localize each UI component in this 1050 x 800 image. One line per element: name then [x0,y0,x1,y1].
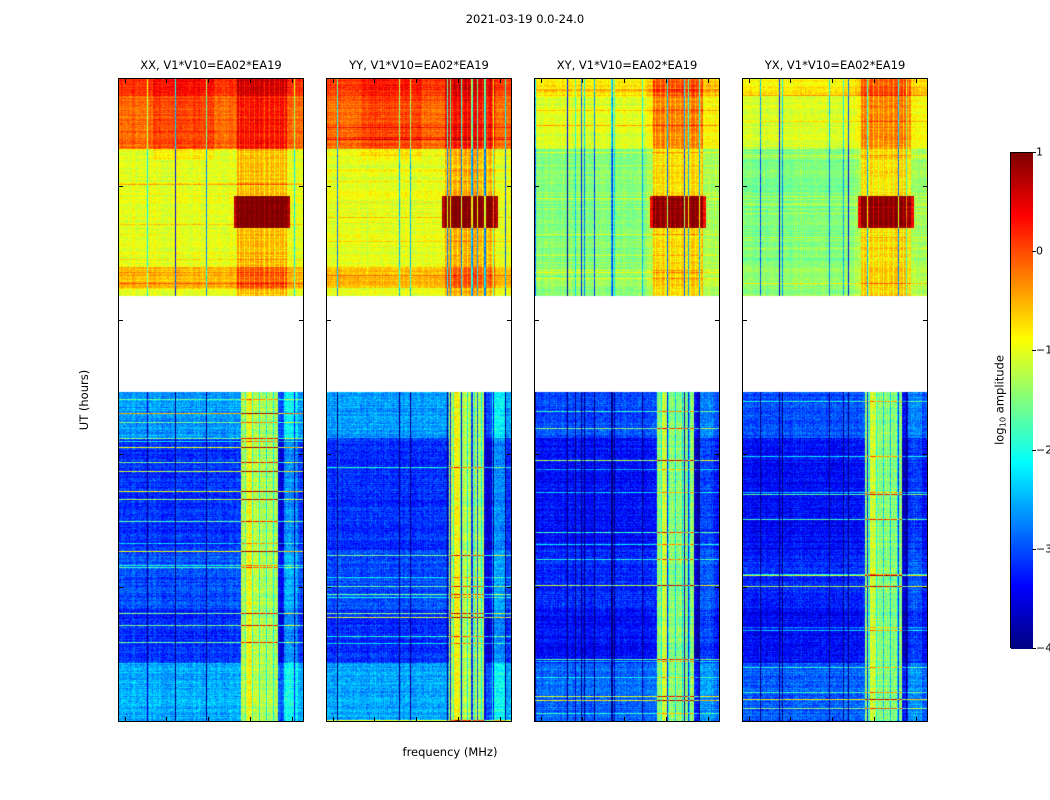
panel-title-yx: YX, V1*V10=EA02*EA19 [742,58,928,72]
y-tick-mark [923,186,927,187]
x-tick-mark [250,79,251,83]
x-tick-mark [166,717,167,721]
spectrum-panel-yx: 05101520320335350365380 [742,78,928,722]
colorbar-tick-mark [1032,350,1036,351]
x-tick-mark [500,717,501,721]
y-tick-mark [535,587,539,588]
x-tick-mark [292,717,293,721]
x-tick-mark [790,79,791,83]
x-tick-mark [666,717,667,721]
x-tick-mark [749,79,750,83]
y-tick-mark [327,721,331,722]
x-tick-mark [749,717,750,721]
y-tick-mark [743,721,747,722]
colorbar-tick-mark [1032,549,1036,550]
y-tick-mark [535,454,539,455]
spectrum-panel-xy: 05101520320335350365380 [534,78,720,722]
y-tick-mark [327,320,331,321]
x-tick-mark [458,717,459,721]
colorbar-tick-label: −1 [1036,344,1050,357]
y-tick-mark [715,186,719,187]
y-tick-mark [715,454,719,455]
colorbar-tick-label: −4 [1036,642,1050,655]
y-tick-mark [119,587,123,588]
y-tick-mark [507,721,511,722]
x-tick-mark [874,79,875,83]
y-tick-mark [715,587,719,588]
y-tick-mark [507,320,511,321]
x-tick-mark [166,79,167,83]
x-tick-mark [125,79,126,83]
y-axis-label: UT (hours) [77,370,91,430]
y-tick-mark [507,454,511,455]
spectrum-panel-yy: 05101520320335350365380 [326,78,512,722]
spectrum-panel-xx: 05101520320335350365380 [118,78,304,722]
colorbar-label: log10 amplitude [992,355,1007,445]
colorbar-tick-label: −3 [1036,542,1050,555]
x-tick-mark [458,79,459,83]
y-tick-mark [507,587,511,588]
panel-title-xx: XX, V1*V10=EA02*EA19 [118,58,304,72]
y-tick-mark [119,320,123,321]
x-tick-mark [666,79,667,83]
colorbar-tick-label: 0 [1036,245,1043,258]
x-tick-mark [916,79,917,83]
y-tick-mark [535,721,539,722]
y-tick-mark [923,721,927,722]
x-tick-mark [708,717,709,721]
y-tick-mark [923,454,927,455]
x-tick-mark [333,79,334,83]
y-tick-mark [715,721,719,722]
colorbar-tick-mark [1032,648,1036,649]
y-tick-mark [535,186,539,187]
x-tick-mark [624,79,625,83]
y-tick-mark [743,186,747,187]
y-tick-mark [119,454,123,455]
y-tick-mark [743,587,747,588]
x-tick-mark [374,79,375,83]
y-tick-mark [327,587,331,588]
y-tick-mark [299,454,303,455]
x-tick-mark [208,79,209,83]
x-tick-mark [708,79,709,83]
y-tick-mark [535,320,539,321]
x-tick-mark [582,79,583,83]
y-tick-mark [119,186,123,187]
x-tick-mark [624,717,625,721]
y-tick-mark [299,320,303,321]
x-tick-mark [916,717,917,721]
x-tick-mark [541,79,542,83]
y-tick-mark [923,320,927,321]
x-tick-mark [790,717,791,721]
y-tick-mark [119,721,123,722]
x-tick-mark [541,717,542,721]
colorbar-tick-label: 1 [1036,146,1043,159]
y-tick-mark [715,320,719,321]
dynamic-spectrum-image [119,79,303,721]
panel-title-xy: XY, V1*V10=EA02*EA19 [534,58,720,72]
colorbar-tick-label: −2 [1036,443,1050,456]
y-tick-mark [923,587,927,588]
y-tick-mark [299,587,303,588]
y-tick-mark [327,454,331,455]
x-tick-mark [333,717,334,721]
panel-title-yy: YY, V1*V10=EA02*EA19 [326,58,512,72]
colorbar-gradient [1011,153,1033,649]
x-tick-mark [374,717,375,721]
y-tick-mark [743,320,747,321]
x-tick-mark [832,717,833,721]
figure-suptitle: 2021-03-19 0.0-24.0 [0,12,1050,26]
y-tick-mark [299,186,303,187]
colorbar-tick-mark [1032,450,1036,451]
colorbar-tick-mark [1032,251,1036,252]
y-tick-mark [743,454,747,455]
x-tick-mark [292,79,293,83]
x-tick-mark [250,717,251,721]
x-tick-mark [874,717,875,721]
x-axis-label: frequency (MHz) [0,745,900,759]
dynamic-spectrum-image [535,79,719,721]
y-tick-mark [299,721,303,722]
y-tick-mark [327,186,331,187]
x-tick-mark [208,717,209,721]
colorbar [1010,152,1032,648]
dynamic-spectrum-image [743,79,927,721]
x-tick-mark [582,717,583,721]
x-tick-mark [500,79,501,83]
colorbar-tick-mark [1032,152,1036,153]
x-tick-mark [416,79,417,83]
dynamic-spectrum-image [327,79,511,721]
x-tick-mark [125,717,126,721]
y-tick-mark [507,186,511,187]
x-tick-mark [832,79,833,83]
x-tick-mark [416,717,417,721]
